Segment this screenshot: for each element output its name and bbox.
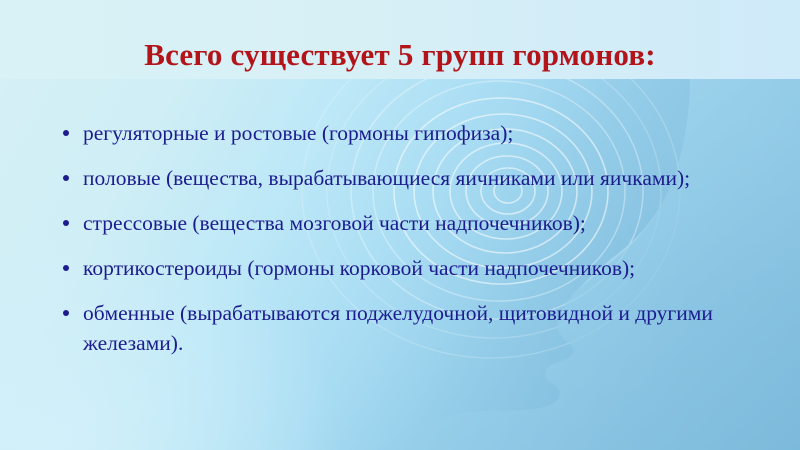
list-item-label: обменные (вырабатываются поджелудочной, …: [83, 298, 768, 358]
list-item-label: регуляторные и ростовые (гормоны гипофиз…: [83, 118, 768, 148]
bullet-dot-icon: [63, 310, 69, 316]
bullet-dot-icon: [63, 265, 69, 271]
list-item-label: стрессовые (вещества мозговой части надп…: [83, 208, 768, 238]
presentation-slide: Всего существует 5 групп гормонов: регул…: [0, 0, 800, 450]
list-item: стрессовые (вещества мозговой части надп…: [56, 208, 768, 238]
list-item: регуляторные и ростовые (гормоны гипофиз…: [56, 118, 768, 148]
bullet-list: регуляторные и ростовые (гормоны гипофиз…: [56, 118, 768, 373]
list-item: обменные (вырабатываются поджелудочной, …: [56, 298, 768, 358]
list-item-label: кортикостероиды (гормоны корковой части …: [83, 253, 768, 283]
list-item: кортикостероиды (гормоны корковой части …: [56, 253, 768, 283]
list-item: половые (вещества, вырабатывающиеся яичн…: [56, 163, 768, 193]
bullet-dot-icon: [63, 175, 69, 181]
list-item-label: половые (вещества, вырабатывающиеся яичн…: [83, 163, 768, 193]
bullet-dot-icon: [63, 220, 69, 226]
page-title: Всего существует 5 групп гормонов:: [0, 36, 800, 74]
bullet-dot-icon: [63, 130, 69, 136]
